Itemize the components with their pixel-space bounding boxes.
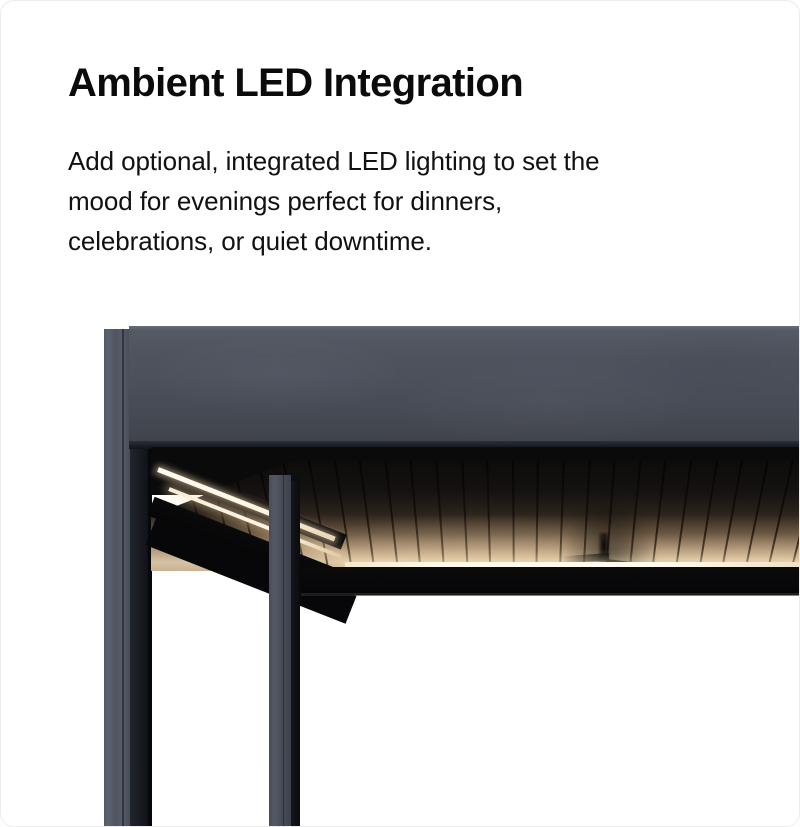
front-rail [301,567,800,595]
page-title: Ambient LED Integration [68,59,708,107]
front-rail-underline [301,593,800,596]
text-block: Ambient LED Integration Add optional, in… [68,59,708,261]
pergola-illustration [1,301,800,827]
left-post [104,329,130,827]
left-post-seam [122,329,124,827]
mid-post-side-face [291,481,300,827]
front-beam-top-lip [129,326,800,330]
body-paragraph: Add optional, integrated LED lighting to… [68,141,643,261]
pergola-photo [1,301,800,827]
feature-card: Ambient LED Integration Add optional, in… [0,0,800,827]
front-beam-texture [129,326,800,447]
mid-post-seam [283,475,284,827]
mid-post [269,475,291,827]
